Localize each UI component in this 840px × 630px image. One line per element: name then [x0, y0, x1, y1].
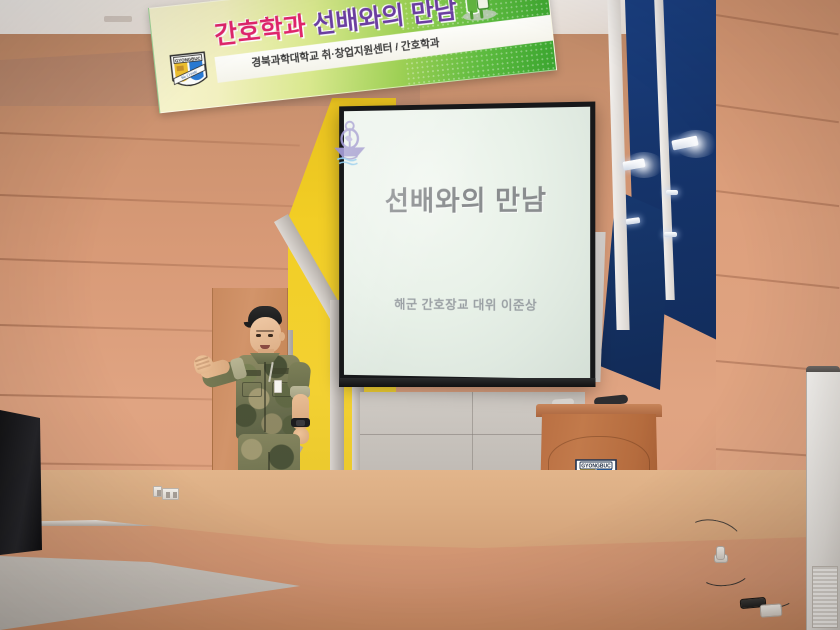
cable-clip — [716, 546, 725, 560]
screen-glare — [344, 107, 590, 380]
ceiling-spot-light — [664, 232, 677, 237]
wall-power-outlet[interactable] — [162, 488, 179, 500]
wall-seam — [0, 132, 300, 147]
air-conditioner-grille — [812, 566, 838, 628]
wall-seam — [0, 394, 216, 401]
uniform-placket — [264, 362, 266, 432]
projection-screen: 선배와의 만남 해군 간호장교 대위 이준상 — [339, 102, 595, 387]
wall-seam — [716, 104, 839, 123]
university-crest-icon: GYONGBUC We Create — [168, 49, 210, 95]
wall-power-outlet[interactable] — [153, 486, 162, 497]
slide-title: 선배와의 만남 — [344, 178, 590, 219]
wall-seam — [0, 194, 300, 208]
chest-pocket-left — [242, 382, 262, 397]
ceiling-spot-light — [666, 190, 678, 195]
eye-right — [268, 334, 273, 337]
projection-screen-surface: 선배와의 만남 해군 간호장교 대위 이준상 — [344, 107, 590, 380]
eye-left — [256, 334, 261, 337]
id-badge — [274, 380, 282, 393]
loudspeaker-cabinet — [0, 410, 42, 555]
slide-subtitle: 해군 간호장교 대위 이준상 — [344, 293, 590, 314]
wall-seam — [0, 258, 300, 270]
navy-nurse-corps-emblem — [329, 119, 371, 167]
wall-seam — [716, 14, 839, 35]
wall-seam — [716, 190, 839, 207]
lecture-hall-photo: 선배와의 만남 해군 간호장교 대위 이준상 GYONGBUC We Creat… — [0, 0, 840, 630]
svg-text:GYONGBUC: GYONGBUC — [581, 464, 611, 470]
screen-bottom-bar — [339, 378, 595, 387]
banner-title-part1: 간호학과 — [213, 12, 308, 50]
ear — [279, 332, 285, 341]
power-plug — [760, 603, 783, 618]
eyebrows — [256, 330, 274, 332]
wall-seam — [0, 324, 216, 332]
wrist-watch — [291, 418, 310, 427]
wall-seam — [716, 274, 840, 289]
ceiling-vent — [104, 16, 132, 22]
